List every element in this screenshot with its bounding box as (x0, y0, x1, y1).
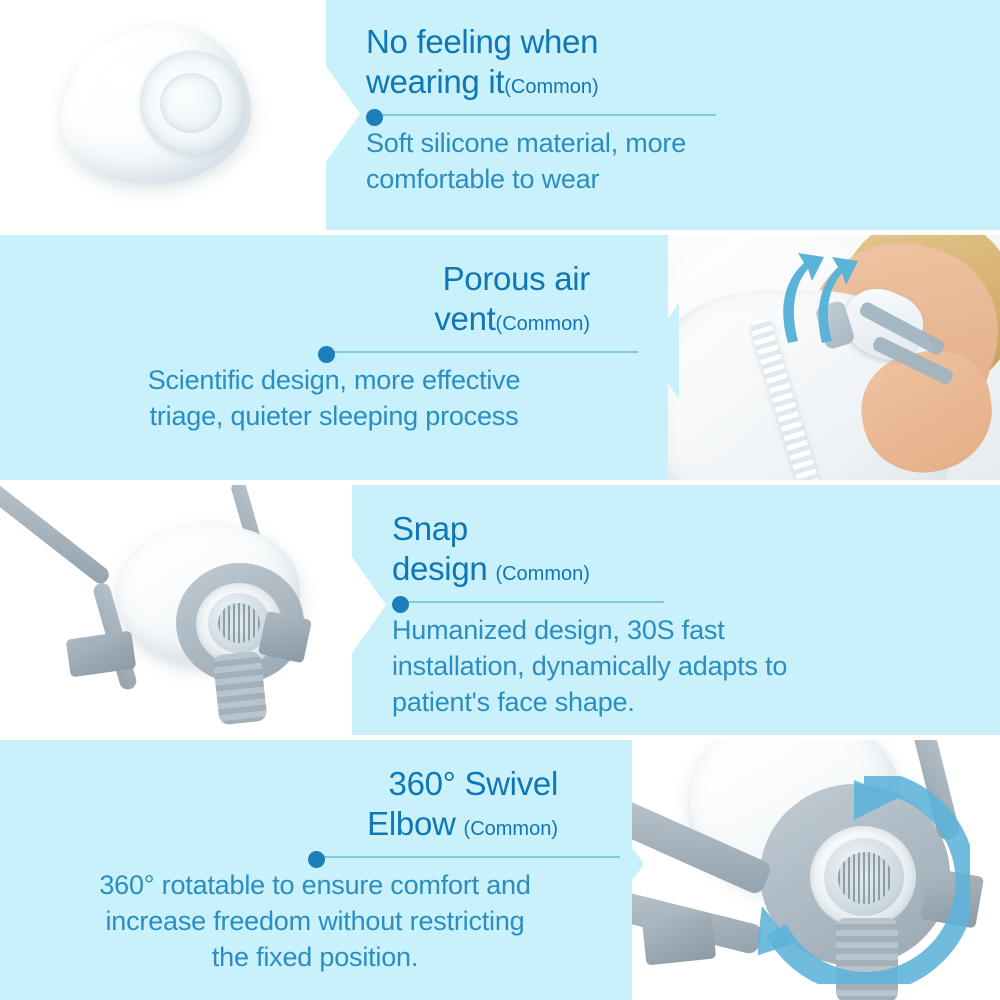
feature-body-text: Soft silicone material, more comfortable… (366, 125, 966, 197)
headgear-strap-top (0, 485, 112, 587)
feature-heading: 360° Swivel Elbow(Common) (10, 764, 620, 849)
underline-bar (318, 856, 620, 858)
feature-heading: Porous air vent(Common) (20, 259, 648, 344)
bullet-dot-icon (308, 851, 325, 868)
feature-text-block: No feeling when wearing it(Common) Soft … (366, 22, 966, 197)
elbow-hose-connector (212, 651, 267, 726)
headgear-clip-right (258, 611, 312, 664)
feature-body-text: Scientific design, more effective triage… (20, 362, 648, 434)
heading-underline (308, 851, 620, 863)
bullet-dot-icon (366, 109, 383, 126)
feature-panel-snap-design: Snap design(Common) Humanized design, 30… (0, 485, 1000, 735)
bullet-dot-icon (392, 596, 409, 613)
heading-underline (318, 346, 638, 358)
feature-common-tag: (Common) (495, 563, 589, 585)
feature-common-tag: (Common) (496, 313, 590, 335)
feature-panel-porous-air-vent: Porous air vent(Common) Scientific desig… (0, 235, 1000, 480)
feature-heading: Snap design(Common) (392, 509, 988, 594)
headgear-clip-left (642, 912, 716, 965)
underline-bar (402, 601, 664, 603)
feature-heading: No feeling when wearing it(Common) (366, 22, 966, 107)
feature-common-tag: (Common) (464, 818, 558, 840)
feature-text-block: Porous air vent(Common) Scientific desig… (20, 259, 648, 434)
underline-bar (328, 351, 638, 353)
bullet-dot-icon (318, 346, 335, 363)
feature-body-text: 360° rotatable to ensure comfort and inc… (10, 867, 620, 975)
airflow-arrows-icon (770, 247, 890, 355)
feature-panel-no-feeling-when-wearing-it: No feeling when wearing it(Common) Soft … (0, 0, 1000, 230)
feature-heading-text: Snap design (392, 510, 487, 587)
underline-bar (376, 114, 716, 116)
rotation-arrow-icon (758, 776, 970, 984)
heading-underline (366, 109, 716, 121)
heading-underline (392, 596, 664, 608)
silicone-cushion-shape (50, 14, 260, 197)
feature-text-block: 360° Swivel Elbow(Common) 360° rotatable… (10, 764, 620, 975)
cpap-mask-headgear-photo (0, 485, 352, 735)
silicone-cushion-photo (0, 0, 326, 230)
swivel-elbow-photo (632, 740, 1000, 1000)
feature-common-tag: (Common) (504, 76, 598, 98)
sleeping-woman-photo (668, 235, 1000, 480)
feature-panel-360-swivel-elbow: 360° Swivel Elbow(Common) 360° rotatable… (0, 740, 1000, 1000)
product-feature-infographic: No feeling when wearing it(Common) Soft … (0, 0, 1000, 1000)
vent-grid-icon (218, 603, 260, 643)
feature-body-text: Humanized design, 30S fast installation,… (392, 612, 988, 720)
feature-text-block: Snap design(Common) Humanized design, 30… (392, 509, 988, 720)
